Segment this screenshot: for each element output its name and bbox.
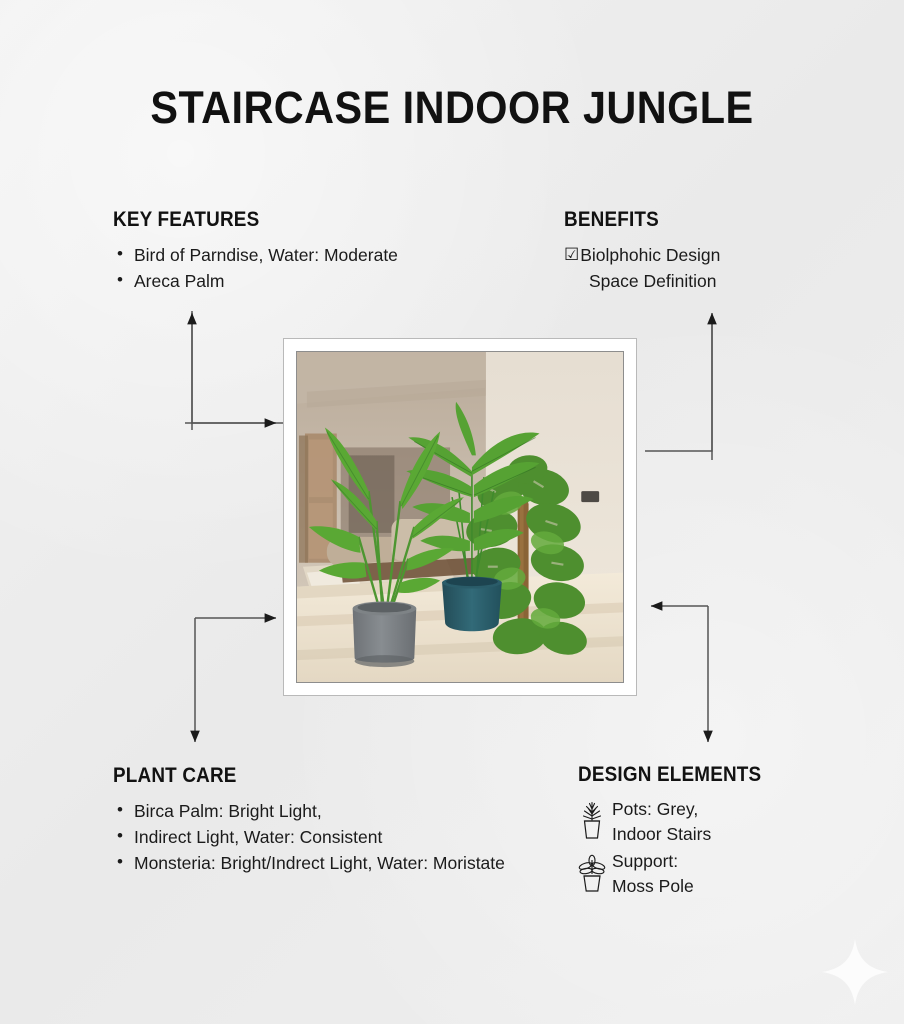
design-element-row: Support: Moss Pole	[578, 849, 782, 899]
page-title: STAIRCASE INDOOR JUNGLE	[36, 82, 868, 134]
list-item: Indirect Light, Water: Consistent	[113, 824, 505, 850]
list-item: Areca Palm	[113, 268, 398, 294]
benefits-checked-item: ☑ Biolphohic Design	[564, 242, 720, 268]
checkbox-checked-icon: ☑	[564, 242, 579, 268]
design-element-line2: Moss Pole	[612, 876, 694, 896]
section-plant-care: PLANT CARE Birca Palm: Bright Light, Ind…	[113, 764, 505, 876]
potted-plant-icon	[578, 800, 606, 844]
design-element-line2: Indoor Stairs	[612, 824, 711, 844]
key-features-list: Bird of Parndise, Water: Moderate Areca …	[113, 242, 398, 294]
section-benefits: BENEFITS ☑ Biolphohic Design Space Defin…	[564, 208, 720, 294]
design-element-line1: Support:	[612, 851, 678, 871]
section-design-elements: DESIGN ELEMENTS Pots: Gre	[578, 763, 782, 901]
list-item: Monsteria: Bright/Indrect Light, Water: …	[113, 850, 505, 876]
plant-care-heading: PLANT CARE	[113, 764, 466, 788]
design-element-line1: Pots: Grey,	[612, 799, 698, 819]
sparkle-icon	[820, 937, 890, 1007]
potted-plant-icon	[578, 852, 606, 896]
infographic-canvas: STAIRCASE INDOOR JUNGLE KEY FEATURES Bir…	[0, 0, 904, 1024]
design-element-row: Pots: Grey, Indoor Stairs	[578, 797, 782, 847]
benefits-heading: BENEFITS	[564, 208, 705, 232]
list-item: Bird of Parndise, Water: Moderate	[113, 242, 398, 268]
design-elements-heading: DESIGN ELEMENTS	[578, 763, 761, 787]
plant-care-list: Birca Palm: Bright Light, Indirect Light…	[113, 798, 505, 876]
list-item: Birca Palm: Bright Light,	[113, 798, 505, 824]
section-key-features: KEY FEATURES Bird of Parndise, Water: Mo…	[113, 208, 398, 294]
photo-image	[296, 351, 624, 683]
key-features-heading: KEY FEATURES	[113, 208, 369, 232]
design-element-text: Support: Moss Pole	[612, 849, 694, 899]
design-element-text: Pots: Grey, Indoor Stairs	[612, 797, 711, 847]
benefits-item-label: Biolphohic Design	[580, 242, 720, 268]
benefits-item-label: Space Definition	[564, 268, 720, 294]
